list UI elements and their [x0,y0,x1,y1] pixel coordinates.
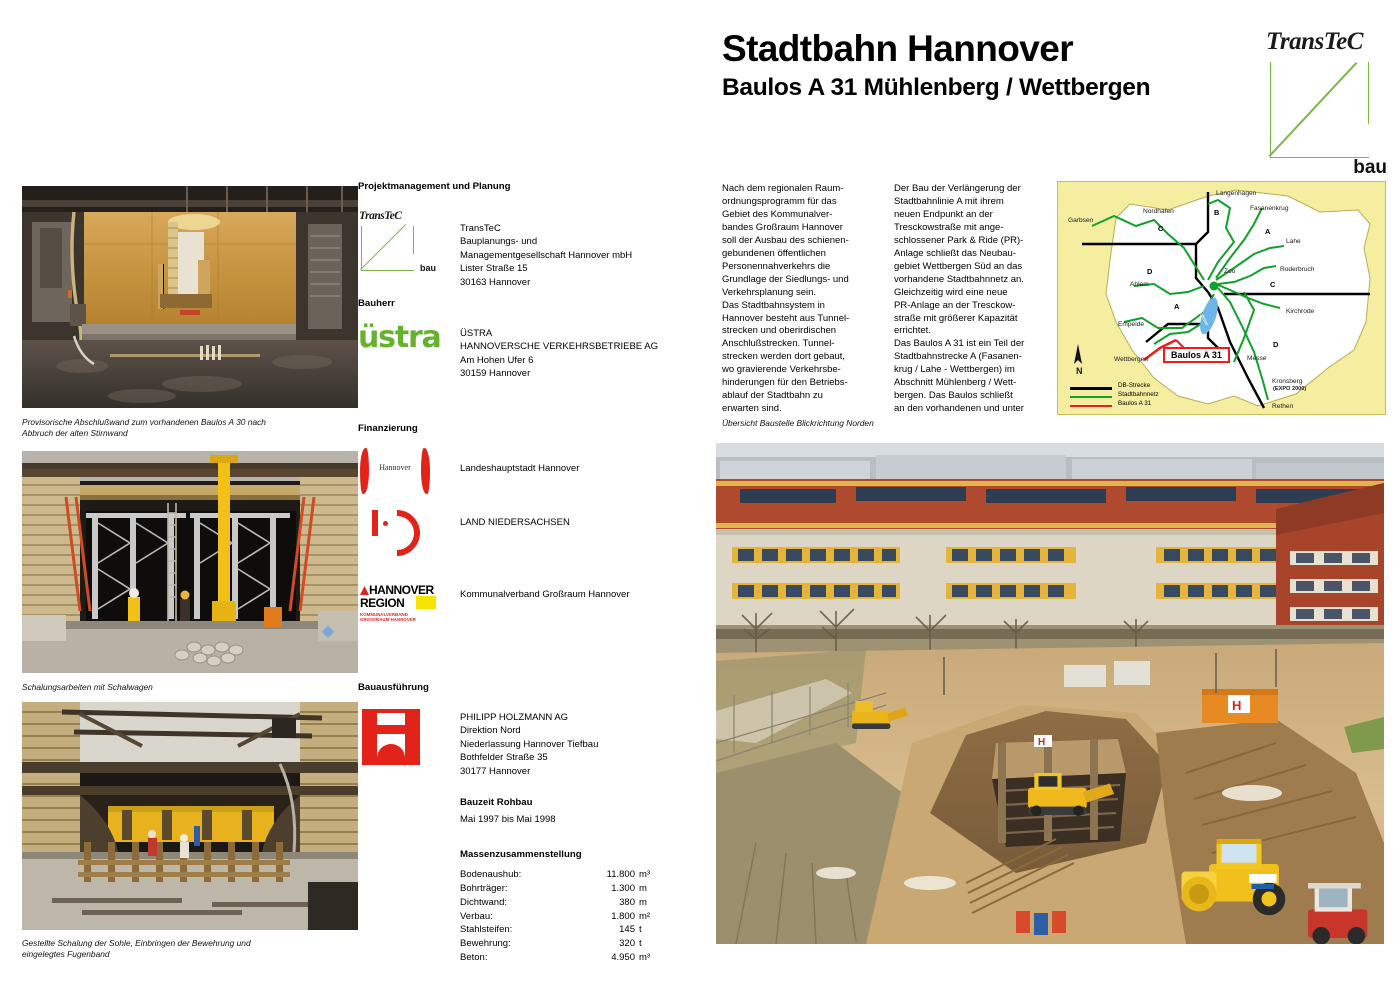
hannover-region-logo: HANNOVER REGION KOMMUNALVERBAND GROSSRAU… [360,584,436,632]
map-line-d-south: D [1273,340,1278,349]
uestra-logo: üstra [358,323,441,353]
map-label-lahe: Lahe [1286,238,1301,245]
photo-tunnel-end-wall [22,186,358,408]
body-text-column-1: Nach dem regionalen Raum- ordnungsprogra… [722,183,890,416]
section-heading-finanzierung: Finanzierung [358,423,708,434]
hannover-region-line1: HANNOVER [360,584,436,596]
photo-site-overview: H [716,443,1384,944]
block-niedersachsen: LAND NIEDERSACHSEN [358,508,708,570]
photo-4-artwork: H [716,443,1384,944]
map-label-langenhagen: Langenhagen [1216,190,1256,197]
photo-2-artwork [22,451,358,673]
map-label-kronsberg: Kronsberg [1272,378,1302,385]
legend-line-stadtbahn [1070,396,1112,398]
svg-text:H: H [1232,698,1241,713]
hannover-region-yellow-shape [416,596,436,609]
transtec-wordmark: TransTeC [1266,28,1363,56]
map-label-wettbergen: Wettbergen [1114,356,1148,363]
network-map: Garbsen Nordhafen Langenhagen Fasanenkru… [1057,181,1386,415]
map-line-a-south: A [1174,302,1179,311]
holzmann-cross-bar-shape [366,725,416,734]
block-holzmann: PHILIPP HOLZMANN AG Direktion Nord Niede… [358,709,708,787]
transtec-frame-shape-small [361,226,414,271]
map-line-d-west: D [1147,267,1152,276]
legend-label-stadtbahn: Stadtbahnnetz [1118,391,1159,398]
table-row: Beton: 4.950 m³ [460,951,708,965]
block-uestra: üstra ÜSTRA HANNOVERSCHE VERKEHRSBETRIEB… [358,323,708,395]
holzmann-dome-shape [377,744,405,761]
map-label-expo2000: (EXPO 2000) [1273,386,1306,392]
map-line-c-east: C [1270,280,1275,289]
transtec-frame-shape [1270,62,1369,158]
transtec-bau-label: bau [1353,157,1387,179]
map-label-zoo: Zoo [1224,268,1235,275]
body-text-column-2: Der Bau der Verlängerung der Stadtbahnli… [894,183,1062,416]
legend-label-baulos: Baulos A 31 [1118,400,1151,407]
section-heading-bauausfuehrung: Bauausführung [358,682,708,693]
worker-red [148,830,157,856]
map-label-fasanenkrug: Fasanenkrug [1250,205,1289,212]
transtec-address: TransTeC Bauplanungs- und Managementgese… [460,210,708,289]
photo-3-artwork [22,702,358,930]
worker-yellow [128,588,140,621]
niedersachsen-logo [366,508,424,548]
transtec-frame-right-shape-small [413,226,414,254]
photo-3-caption: Gestellte Schalung der Sohle, Einbringen… [22,938,358,960]
section-heading-projektmanagement: Projektmanagement und Planung [358,181,708,192]
table-row: Bodenaushub: 11.800 m³ [460,868,708,882]
holzmann-left-bar-shape [366,713,377,761]
poster-page: Stadtbahn Hannover Baulos A 31 Mühlenber… [0,0,1400,989]
map-artwork [1058,182,1383,412]
photo-2-caption: Schalungsarbeiten mit Schalwagen [22,682,358,693]
info-column: Projektmanagement und Planung TransTeC b… [358,181,708,965]
table-row: Stahlsteifen: 145 t [460,923,708,937]
block-transtec: TransTeC bau TransTeC Bauplanungs- und M… [358,210,708,284]
block-hannover-region: HANNOVER REGION KOMMUNALVERBAND GROSSRAU… [358,584,708,656]
map-label-nordhafen: Nordhafen [1143,208,1174,215]
legend-line-db [1070,387,1112,390]
hannover-region-triangle-shape [360,586,369,595]
drums [1016,911,1066,935]
table-row: Dichtwand: 380 m [460,896,708,910]
map-label-empelde: Empelde [1118,321,1144,328]
table-row: Bohrträger: 1.300 m [460,882,708,896]
holzmann-logo [362,709,420,765]
worker-white [180,834,189,858]
map-line-c-west: C [1158,224,1163,233]
bauzeit-value: Mai 1997 bis Mai 1998 [460,814,708,825]
photo-1-artwork [22,186,358,408]
hub-node-shape [1210,282,1219,291]
map-label-rethen: Rethen [1272,403,1293,410]
map-line-b-north: B [1214,208,1219,217]
hannover-city-logo: Hannover [358,448,432,494]
photo-1-caption: Provisorische Abschlußwand zum vorhanden… [22,417,358,439]
niedersachsen-dot-shape [383,521,388,526]
north-arrow-icon [1074,344,1082,364]
worker-dark [180,591,190,622]
map-line-a-north: A [1265,227,1270,236]
table-row: Verbau: 1.800 m² [460,910,708,924]
transtec-bau-label-small: bau [420,263,436,273]
photo-base-slab-formwork [22,702,358,930]
svg-text:H: H [1038,737,1045,748]
transtec-wordmark-small: TransTeC [359,210,401,222]
map-label-roderbruch: Roderbruch [1280,266,1314,273]
holzmann-address: PHILIPP HOLZMANN AG Direktion Nord Niede… [460,709,708,778]
kommunalverband-name: Kommunalverband Großraum Hannover [460,584,708,601]
landeshauptstadt-name: Landeshauptstadt Hannover [460,448,708,475]
transtec-bau-logo: TransTeC bau [358,210,444,272]
massen-table: Bodenaushub: 11.800 m³ Bohrträger: 1.300… [460,868,708,965]
niedersachsen-name: LAND NIEDERSACHSEN [460,508,708,529]
photo-4-caption: Übersicht Baustelle Blickrichtung Norden [722,418,1062,429]
section-heading-bauherr: Bauherr [358,298,708,309]
legend-line-baulos [1070,405,1112,407]
right-apartment-block [1276,483,1384,643]
map-north-label: N [1076,366,1083,376]
site-container-orange: H [1202,689,1278,723]
map-label-garbsen: Garbsen [1068,217,1093,224]
map-label-kirchrode: Kirchrode [1286,308,1314,315]
uestra-address: ÜSTRA HANNOVERSCHE VERKEHRSBETRIEBE AG A… [460,323,708,381]
hannover-logo-label: Hannover [358,463,432,472]
bauzeit-heading: Bauzeit Rohbau [460,797,708,808]
holzmann-right-bar-shape [405,713,416,761]
map-label-messe: Messe [1247,355,1266,362]
photo-formwork-carriage [22,451,358,673]
map-label-ahlem: Ahlem [1130,281,1149,288]
hannover-region-subtext: KOMMUNALVERBAND GROSSRAUM HANNOVER [360,612,436,623]
uestra-wordmark: üstra [358,323,441,353]
map-callout-baulos-a31: Baulos A 31 [1163,347,1230,363]
block-landeshauptstadt: Hannover Landeshauptstadt Hannover [358,448,708,506]
table-row: Bewehrung: 320 t [460,937,708,951]
transtec-bau-logo-header: TransTeC bau [1262,28,1387,163]
legend-label-db: DB-Strecke [1118,382,1150,389]
transtec-frame-right-shape [1368,62,1369,124]
massen-heading: Massenzusammenstellung [460,849,708,860]
